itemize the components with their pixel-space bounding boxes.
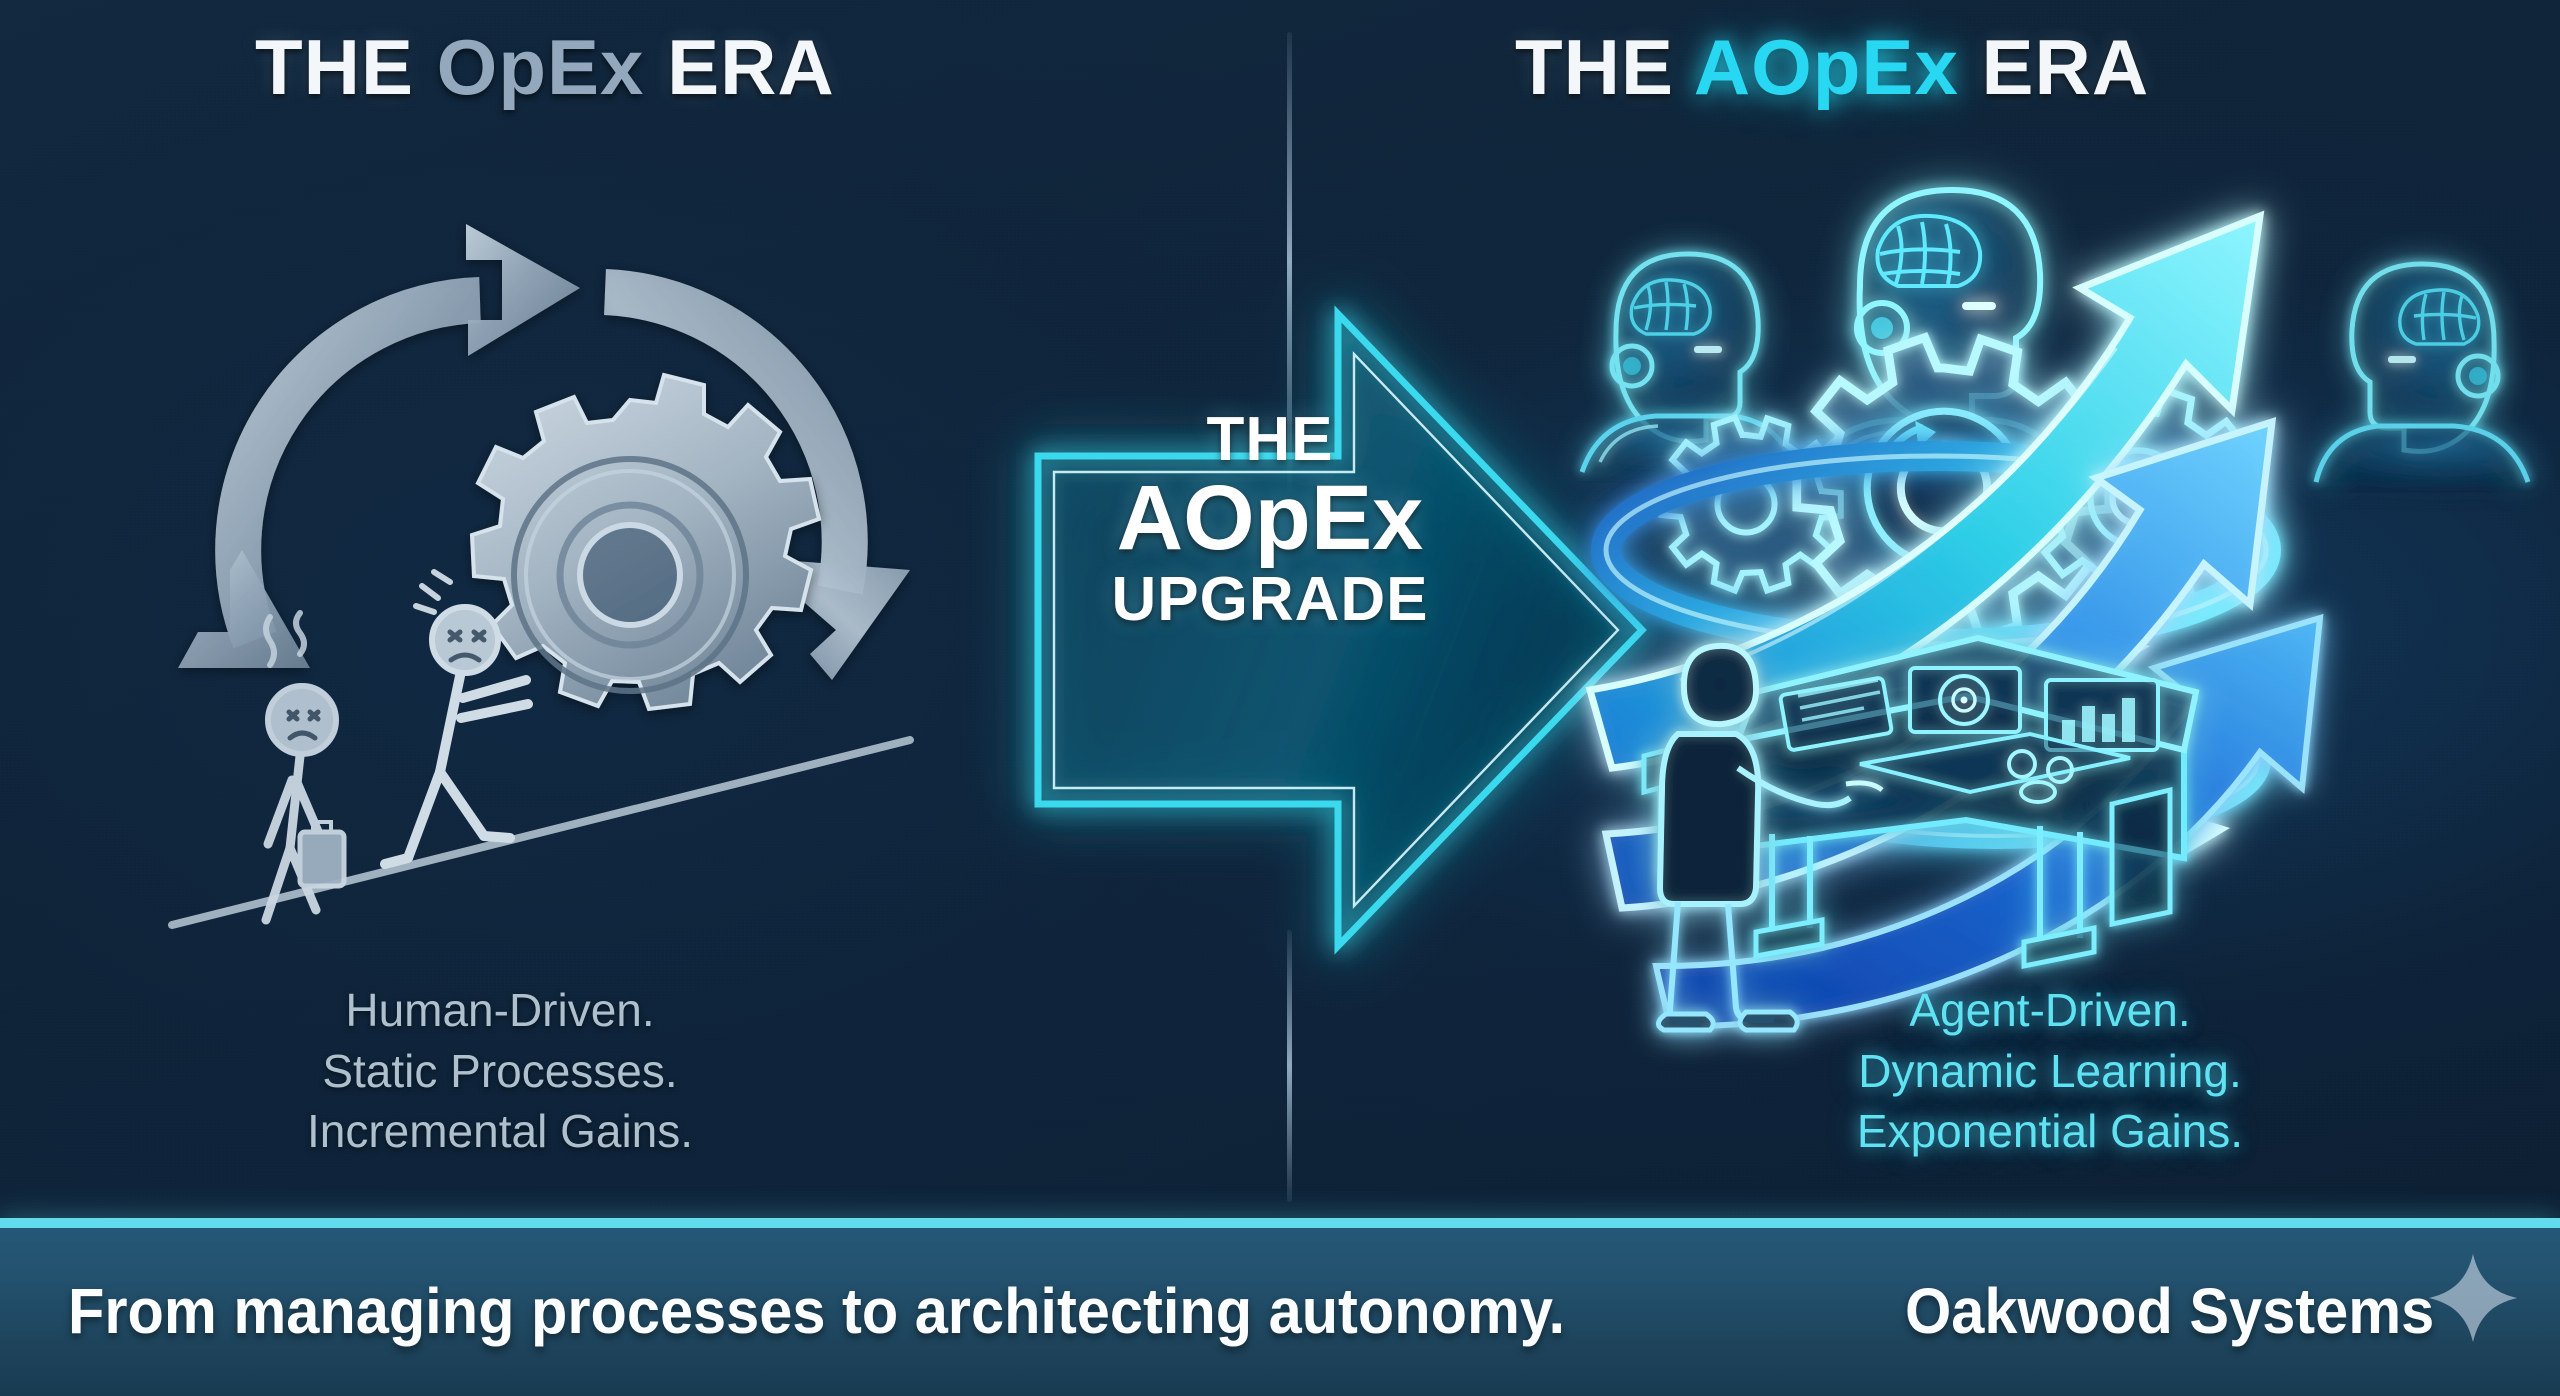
footer-brand-name: Oakwood Systems: [1905, 1274, 2434, 1348]
left-panel-caption: Human-Driven. Static Processes. Incremen…: [0, 980, 1000, 1162]
right-title-highlight: AOpEx: [1694, 23, 1959, 111]
infographic-canvas: THE OpEx ERA THE AOpEx ERA: [0, 0, 2560, 1396]
right-panel-title: THE AOpEx ERA: [1515, 28, 2149, 106]
sweat-drops: [416, 572, 450, 612]
footer-tagline: From managing processes to architecting …: [68, 1274, 1565, 1348]
panels-area: THE OpEx ERA THE AOpEx ERA: [0, 0, 2560, 1218]
agent-driven-autonomy-illustration: [1560, 120, 2550, 1000]
uphill-incline-line: [172, 740, 910, 925]
left-title-highlight: OpEx: [437, 23, 645, 111]
ai-robot-head-right: [2316, 264, 2528, 482]
right-panel-caption: Agent-Driven. Dynamic Learning. Exponent…: [1560, 980, 2540, 1162]
large-gear: [472, 375, 819, 709]
right-title-prefix: THE: [1515, 23, 1694, 111]
oak-leaf-diamond-icon: [2425, 1250, 2521, 1346]
left-panel-title: THE OpEx ERA: [255, 28, 835, 106]
left-title-prefix: THE: [255, 23, 437, 111]
right-title-suffix: ERA: [1959, 23, 2149, 111]
tired-stick-figure: [266, 686, 344, 920]
human-driven-cycle-illustration: [150, 120, 1100, 980]
footer-bar: From managing processes to architecting …: [0, 1218, 2560, 1396]
left-title-suffix: ERA: [644, 23, 834, 111]
